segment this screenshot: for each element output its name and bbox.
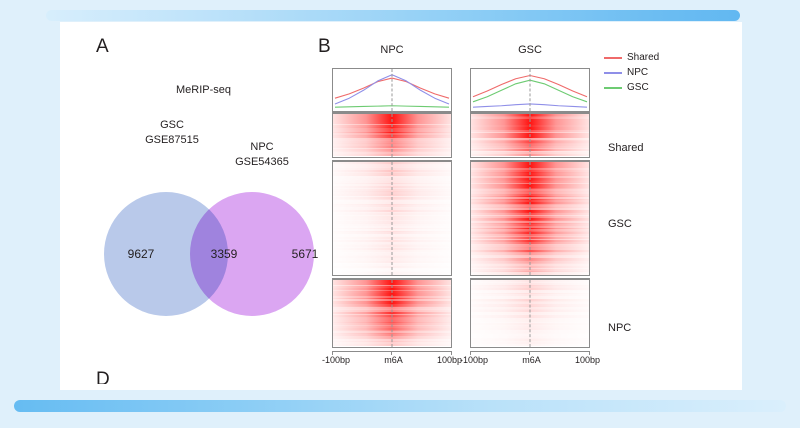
center-line <box>392 280 393 347</box>
heatmap-block-shared <box>470 112 590 158</box>
x-axis-gsc: -100bp m6A 100bp <box>470 351 590 369</box>
heatmap-column-npc: NPC <box>332 68 452 369</box>
center-line <box>392 162 393 275</box>
venn-set-left-accession: GSE87515 <box>145 134 199 146</box>
axis-label-right: 100bp <box>437 355 462 365</box>
profile-plot-npc <box>332 68 452 112</box>
heatmap-column-title-gsc: GSC <box>470 44 590 56</box>
heatmap-block-npc <box>332 278 452 348</box>
venn-count-shared: 3359 <box>197 247 251 261</box>
axis-label-left: -100bp <box>460 355 488 365</box>
panel-b-heatmaps: NPC <box>318 22 742 390</box>
legend-swatch-shared <box>604 57 622 59</box>
row-group-label-npc: NPC <box>608 322 631 334</box>
heatmap-block-npc <box>470 278 590 348</box>
venn-set-right-name: NPC <box>250 141 273 153</box>
legend-label-gsc: GSC <box>627 82 649 93</box>
heatmap-block-shared <box>332 112 452 158</box>
heatmap-column-title-npc: NPC <box>332 44 452 56</box>
center-line <box>530 280 531 347</box>
axis-label-left: -100bp <box>322 355 350 365</box>
heatmap-block-gsc <box>332 160 452 276</box>
legend-label-npc: NPC <box>627 67 648 78</box>
center-line <box>392 69 393 111</box>
axis-label-center: m6A <box>522 355 541 365</box>
figure-sheet: A B D MeRIP-seq GSC GSE87515 NPC GSE5436… <box>60 22 742 390</box>
legend-item-shared: Shared <box>604 50 659 65</box>
center-line <box>392 114 393 157</box>
profile-plot-gsc <box>470 68 590 112</box>
venn-title: MeRIP-seq <box>176 84 231 96</box>
legend-item-npc: NPC <box>604 65 659 80</box>
legend-item-gsc: GSC <box>604 80 659 95</box>
x-axis-npc: -100bp m6A 100bp <box>332 351 452 369</box>
heatmap-block-gsc <box>470 160 590 276</box>
figure-page: A B D MeRIP-seq GSC GSE87515 NPC GSE5436… <box>0 0 800 428</box>
legend-swatch-npc <box>604 72 622 74</box>
decorative-top-bar <box>46 10 740 21</box>
profile-legend: Shared NPC GSC <box>604 50 659 95</box>
axis-label-center: m6A <box>384 355 403 365</box>
venn-set-label-right: NPC GSE54365 <box>222 140 302 170</box>
venn-set-right-accession: GSE54365 <box>235 156 289 168</box>
center-line <box>530 114 531 157</box>
venn-set-left-name: GSC <box>160 119 184 131</box>
venn-set-label-left: GSC GSE87515 <box>132 118 212 148</box>
row-group-label-gsc: GSC <box>608 218 632 230</box>
panel-a-venn: MeRIP-seq GSC GSE87515 NPC GSE54365 9627… <box>60 22 318 390</box>
decorative-bottom-bar <box>14 400 786 412</box>
row-group-label-shared: Shared <box>608 142 643 154</box>
heatmap-column-gsc: GSC <box>470 68 590 369</box>
legend-label-shared: Shared <box>627 52 659 63</box>
axis-label-right: 100bp <box>575 355 600 365</box>
legend-swatch-gsc <box>604 87 622 89</box>
center-line <box>530 162 531 275</box>
venn-count-gsc-only: 9627 <box>114 247 168 261</box>
center-line <box>530 69 531 111</box>
